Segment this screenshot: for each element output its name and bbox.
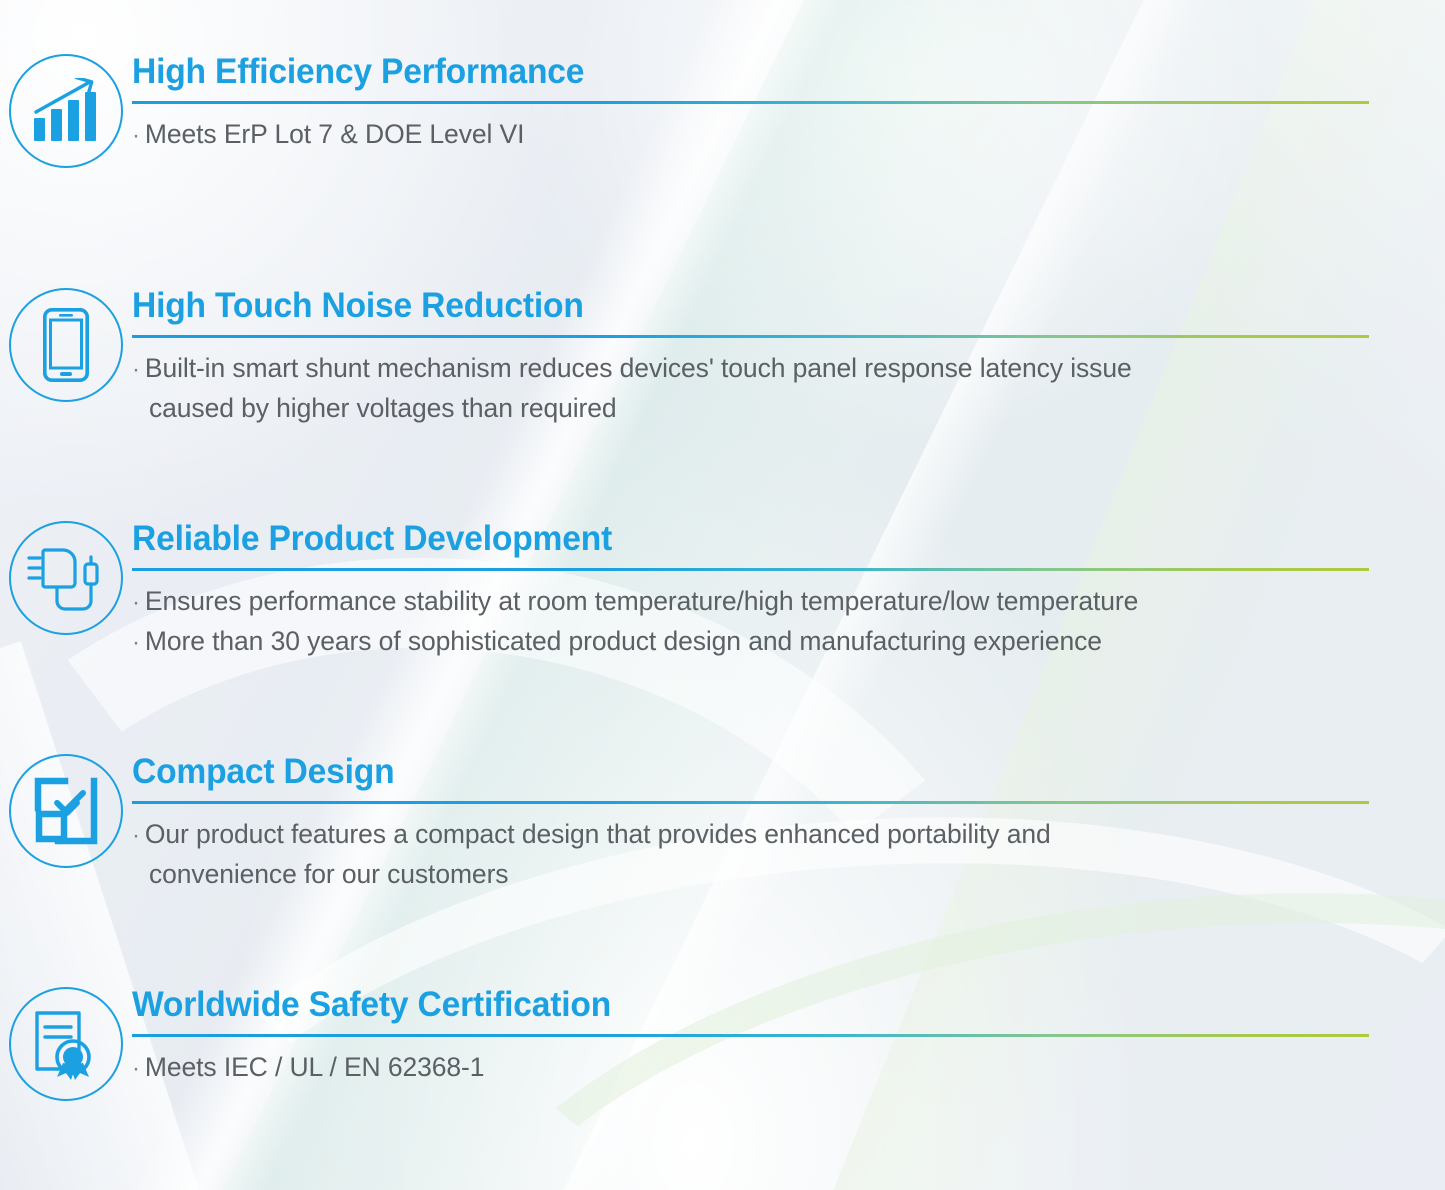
bullet-icon: · [132, 589, 140, 616]
feature-divider [132, 801, 1369, 804]
feature-title: Worldwide Safety Certification [132, 985, 1320, 1025]
feature-title: Reliable Product Development [132, 519, 1320, 559]
certificate-award-icon [9, 987, 123, 1101]
feature-title: Compact Design [132, 752, 1320, 792]
description-text: Meets ErP Lot 7 & DOE Level VI [145, 119, 524, 149]
description-line-continuation: caused by higher voltages than required [132, 389, 1369, 428]
bullet-icon: · [132, 629, 140, 656]
feature-body: Compact Design ·Our product features a c… [132, 752, 1445, 894]
feature-description: ·Ensures performance stability at room t… [132, 582, 1369, 662]
feature-body: High Efficiency Performance ·Meets ErP L… [132, 52, 1445, 155]
feature-body: Worldwide Safety Certification ·Meets IE… [132, 985, 1445, 1088]
description-line: ·Ensures performance stability at room t… [132, 582, 1369, 622]
feature-icon-wrap [0, 985, 132, 1101]
feature-description: ·Meets ErP Lot 7 & DOE Level VI [132, 115, 1369, 155]
description-text: Meets IEC / UL / EN 62368-1 [145, 1052, 485, 1082]
feature-title: High Touch Noise Reduction [132, 286, 1320, 326]
feature-title: High Efficiency Performance [132, 52, 1320, 92]
description-line: ·Meets IEC / UL / EN 62368-1 [132, 1048, 1369, 1088]
feature-icon-wrap [0, 52, 132, 168]
bullet-icon: · [132, 822, 140, 849]
description-text: Our product features a compact design th… [145, 819, 1051, 849]
feature-item-compact-design: Compact Design ·Our product features a c… [0, 752, 1445, 894]
description-line: ·Built-in smart shunt mechanism reduces … [132, 349, 1369, 389]
description-text: Built-in smart shunt mechanism reduces d… [145, 353, 1132, 383]
description-line: ·Our product features a compact design t… [132, 815, 1369, 855]
description-text: More than 30 years of sophisticated prod… [145, 626, 1102, 656]
power-adapter-icon [9, 521, 123, 635]
feature-icon-wrap [0, 752, 132, 868]
bar-chart-growth-icon [9, 54, 123, 168]
feature-item-reliable-product-development: Reliable Product Development ·Ensures pe… [0, 519, 1445, 662]
description-line: ·Meets ErP Lot 7 & DOE Level VI [132, 115, 1369, 155]
description-text: convenience for our customers [132, 855, 508, 894]
feature-item-high-efficiency-performance: High Efficiency Performance ·Meets ErP L… [0, 52, 1445, 168]
smartphone-icon [9, 288, 123, 402]
description-text: caused by higher voltages than required [132, 389, 617, 428]
feature-body: Reliable Product Development ·Ensures pe… [132, 519, 1445, 662]
description-line-continuation: convenience for our customers [132, 855, 1369, 894]
bullet-icon: · [132, 122, 140, 149]
feature-item-high-touch-noise-reduction: High Touch Noise Reduction ·Built-in sma… [0, 286, 1445, 428]
feature-body: High Touch Noise Reduction ·Built-in sma… [132, 286, 1445, 428]
feature-divider [132, 1034, 1369, 1037]
feature-highlights-page: High Efficiency Performance ·Meets ErP L… [0, 0, 1445, 1190]
description-line: ·More than 30 years of sophisticated pro… [132, 622, 1369, 662]
bullet-icon: · [132, 1055, 140, 1082]
feature-description: ·Our product features a compact design t… [132, 815, 1369, 894]
feature-icon-wrap [0, 286, 132, 402]
feature-icon-wrap [0, 519, 132, 635]
compact-resize-icon [9, 754, 123, 868]
description-text: Ensures performance stability at room te… [145, 586, 1138, 616]
bullet-icon: · [132, 356, 140, 383]
feature-item-worldwide-safety-certification: Worldwide Safety Certification ·Meets IE… [0, 985, 1445, 1101]
feature-divider [132, 568, 1369, 571]
feature-description: ·Meets IEC / UL / EN 62368-1 [132, 1048, 1369, 1088]
feature-divider [132, 335, 1369, 338]
feature-description: ·Built-in smart shunt mechanism reduces … [132, 349, 1369, 428]
feature-divider [132, 101, 1369, 104]
